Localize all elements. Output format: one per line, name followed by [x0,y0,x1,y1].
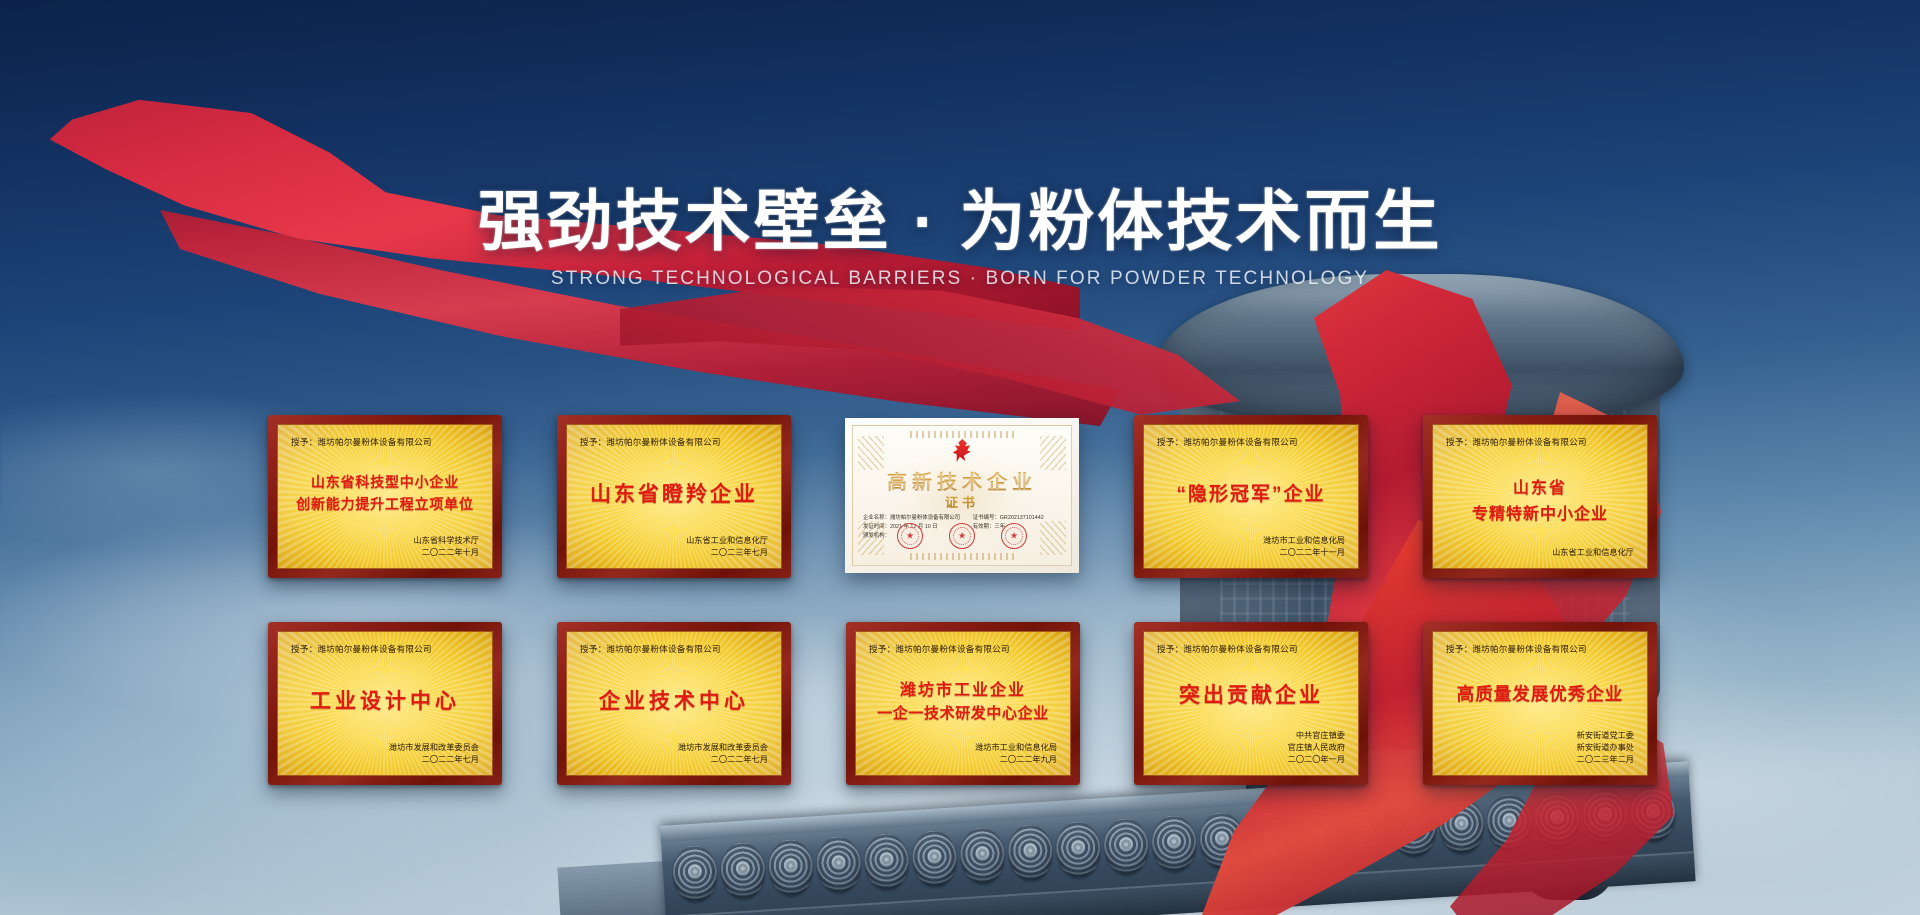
plaque-awarded-to: 授予：潍坊帕尔曼粉体设备有限公司 [291,436,479,448]
plaque-gold-panel: 授予：潍坊帕尔曼粉体设备有限公司 山东省 专精特新中小企业 山东省工业和信息化厅 [1432,424,1648,569]
plaque-title: 突出贡献企业 [1157,657,1345,730]
plaque-awarded-to: 授予：潍坊帕尔曼粉体设备有限公司 [580,436,768,448]
plaque-issuer-secondary: 官庄镇人民政府 [1157,742,1345,754]
plaque-title-line: 工业设计中心 [310,685,460,715]
plaque-gold-panel: 授予：潍坊帕尔曼粉体设备有限公司 高质量发展优秀企业 新安街道党工委 新安街道办… [1432,631,1648,776]
plaque-awarded-to: 授予：潍坊帕尔曼粉体设备有限公司 [869,643,1057,655]
plaque-title: 潍坊市工业企业 一企一技术研发中心企业 [869,657,1057,742]
plaque-gold-panel: 授予：潍坊帕尔曼粉体设备有限公司 “隐形冠军”企业 潍坊市工业和信息化局 二〇二… [1143,424,1359,569]
plaque-footer: 新安街道党工委 新安街道办事处 二〇二三年二月 [1446,730,1634,766]
plaque-issuer: 中共官庄镇委 [1157,730,1345,742]
plaque-footer: 潍坊市工业和信息化局 二〇二二年十一月 [1157,535,1345,559]
plaque-date: 二〇二三年七月 [580,547,768,559]
plaque-issuer: 潍坊市工业和信息化局 [1157,535,1345,547]
plaque-title-line: “隐形冠军”企业 [1176,479,1325,506]
plaque-awarded-to: 授予：潍坊帕尔曼粉体设备有限公司 [1446,436,1634,448]
plaque-title-line: 一企一技术研发中心企业 [877,702,1049,723]
plaque-issuer: 山东省工业和信息化厅 [1446,547,1634,559]
plaque-gold-panel: 授予：潍坊帕尔曼粉体设备有限公司 工业设计中心 潍坊市发展和改革委员会 二〇二二… [277,631,493,776]
award-plaque[interactable]: 授予：潍坊帕尔曼粉体设备有限公司 潍坊市工业企业 一企一技术研发中心企业 潍坊市… [846,622,1080,785]
awards-gallery: 授予：潍坊帕尔曼粉体设备有限公司 山东省科技型中小企业 创新能力提升工程立项单位… [0,0,1920,915]
plaque-footer: 山东省工业和信息化厅 二〇二三年七月 [580,535,768,559]
award-plaque[interactable]: 授予：潍坊帕尔曼粉体设备有限公司 企业技术中心 潍坊市发展和改革委员会 二〇二二… [557,622,791,785]
flame-logo-icon [951,439,973,463]
plaque-issuer: 新安街道党工委 [1446,730,1634,742]
award-plaque[interactable]: 授予：潍坊帕尔曼粉体设备有限公司 “隐形冠军”企业 潍坊市工业和信息化局 二〇二… [1134,415,1368,578]
plaque-date: 二〇二二年七月 [580,754,768,766]
award-plaque[interactable]: 授予：潍坊帕尔曼粉体设备有限公司 山东省科技型中小企业 创新能力提升工程立项单位… [268,415,502,578]
plaque-title: 山东省 专精特新中小企业 [1446,450,1634,547]
plaque-footer: 潍坊市发展和改革委员会 二〇二二年七月 [291,742,479,766]
certificate-seals [853,523,1071,549]
plaque-title-line: 山东省科技型中小企业 [311,472,459,492]
plaque-date: 二〇二〇年一月 [1157,754,1345,766]
plaque-title-line: 创新能力提升工程立项单位 [296,494,474,514]
plaque-title: 山东省科技型中小企业 创新能力提升工程立项单位 [291,450,479,535]
certificate-field: 证书编号：GR202137101442 [973,514,1061,522]
plaque-gold-panel: 授予：潍坊帕尔曼粉体设备有限公司 潍坊市工业企业 一企一技术研发中心企业 潍坊市… [855,631,1071,776]
plaque-title: 企业技术中心 [580,657,768,742]
plaque-title-line: 企业技术中心 [599,685,749,715]
plaque-date: 二〇二三年二月 [1446,754,1634,766]
plaque-gold-panel: 授予：潍坊帕尔曼粉体设备有限公司 山东省瞪羚企业 山东省工业和信息化厅 二〇二三… [566,424,782,569]
high-tech-enterprise-certificate[interactable]: 高新技术企业 证书 企业名称：潍坊帕尔曼粉体设备有限公司 证书编号：GR2021… [845,418,1079,573]
plaque-footer: 中共官庄镇委 官庄镇人民政府 二〇二〇年一月 [1157,730,1345,766]
plaque-footer: 潍坊市发展和改革委员会 二〇二二年七月 [580,742,768,766]
plaque-date: 二〇二二年十月 [291,547,479,559]
plaque-title-line: 山东省 [1513,474,1567,498]
plaque-footer: 山东省科学技术厅 二〇二二年十月 [291,535,479,559]
award-plaque[interactable]: 授予：潍坊帕尔曼粉体设备有限公司 山东省 专精特新中小企业 山东省工业和信息化厅 [1423,415,1657,578]
plaque-title: “隐形冠军”企业 [1157,450,1345,535]
plaque-awarded-to: 授予：潍坊帕尔曼粉体设备有限公司 [291,643,479,655]
plaque-title: 工业设计中心 [291,657,479,742]
plaque-gold-panel: 授予：潍坊帕尔曼粉体设备有限公司 突出贡献企业 中共官庄镇委 官庄镇人民政府 二… [1143,631,1359,776]
certificate-subtitle: 证书 [853,492,1071,511]
plaque-gold-panel: 授予：潍坊帕尔曼粉体设备有限公司 企业技术中心 潍坊市发展和改革委员会 二〇二二… [566,631,782,776]
plaque-title-line: 突出贡献企业 [1179,679,1323,709]
plaque-footer: 山东省工业和信息化厅 [1446,547,1634,559]
award-plaque[interactable]: 授予：潍坊帕尔曼粉体设备有限公司 突出贡献企业 中共官庄镇委 官庄镇人民政府 二… [1134,622,1368,785]
award-plaque[interactable]: 授予：潍坊帕尔曼粉体设备有限公司 山东省瞪羚企业 山东省工业和信息化厅 二〇二三… [557,415,791,578]
plaque-awarded-to: 授予：潍坊帕尔曼粉体设备有限公司 [1446,643,1634,655]
plaque-footer: 潍坊市工业和信息化局 二〇二二年九月 [869,742,1057,766]
plaque-title: 高质量发展优秀企业 [1446,657,1634,730]
plaque-awarded-to: 授予：潍坊帕尔曼粉体设备有限公司 [580,643,768,655]
award-plaque[interactable]: 授予：潍坊帕尔曼粉体设备有限公司 工业设计中心 潍坊市发展和改革委员会 二〇二二… [268,622,502,785]
plaque-date: 二〇二二年十一月 [1157,547,1345,559]
plaque-title-line: 专精特新中小企业 [1472,500,1608,524]
official-seal-icon [949,523,975,549]
official-seal-icon [1001,523,1027,549]
certificate-corner-ornament [858,436,884,470]
hero-banner: 强劲技术壁垒 · 为粉体技术而生 STRONG TECHNOLOGICAL BA… [0,0,1920,915]
plaque-issuer: 潍坊市工业和信息化局 [869,742,1057,754]
certificate-bottom-band [910,553,1015,560]
plaque-title-line: 山东省瞪羚企业 [590,478,758,508]
plaque-issuer: 山东省科学技术厅 [291,535,479,547]
plaque-title-line: 潍坊市工业企业 [900,676,1026,700]
plaque-date: 二〇二二年七月 [291,754,479,766]
plaque-title: 山东省瞪羚企业 [580,450,768,535]
plaque-issuer: 潍坊市发展和改革委员会 [580,742,768,754]
certificate-top-band [910,431,1015,438]
official-seal-icon [897,523,923,549]
plaque-awarded-to: 授予：潍坊帕尔曼粉体设备有限公司 [1157,436,1345,448]
certificate-title: 高新技术企业 [853,466,1071,495]
plaque-issuer: 潍坊市发展和改革委员会 [291,742,479,754]
plaque-title-line: 高质量发展优秀企业 [1457,681,1624,706]
plaque-issuer-secondary: 新安街道办事处 [1446,742,1634,754]
plaque-gold-panel: 授予：潍坊帕尔曼粉体设备有限公司 山东省科技型中小企业 创新能力提升工程立项单位… [277,424,493,569]
certificate-corner-ornament [1040,436,1066,470]
plaque-date: 二〇二二年九月 [869,754,1057,766]
plaque-issuer: 山东省工业和信息化厅 [580,535,768,547]
plaque-awarded-to: 授予：潍坊帕尔曼粉体设备有限公司 [1157,643,1345,655]
certificate-panel: 高新技术企业 证书 企业名称：潍坊帕尔曼粉体设备有限公司 证书编号：GR2021… [852,425,1072,566]
award-plaque[interactable]: 授予：潍坊帕尔曼粉体设备有限公司 高质量发展优秀企业 新安街道党工委 新安街道办… [1423,622,1657,785]
certificate-field: 企业名称：潍坊帕尔曼粉体设备有限公司 [863,514,967,522]
